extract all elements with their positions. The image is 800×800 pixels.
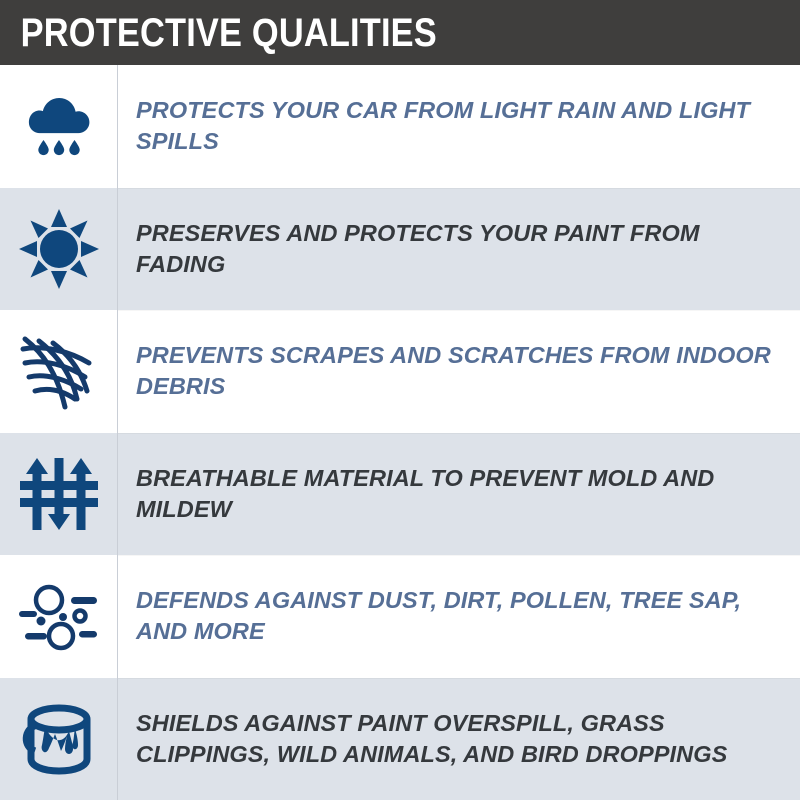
feature-label: SHIELDS AGAINST PAINT OVERSPILL, GRASS C… — [136, 708, 778, 771]
text-cell: BREATHABLE MATERIAL TO PREVENT MOLD AND … — [118, 433, 800, 556]
protective-qualities-infographic: PROTECTIVE QUALITIES PROTECTS YOUR CAR F… — [0, 0, 800, 800]
feature-label: BREATHABLE MATERIAL TO PREVENT MOLD AND … — [136, 463, 778, 526]
text-cell: DEFENDS AGAINST DUST, DIRT, POLLEN, TREE… — [118, 555, 800, 678]
dust-particles-icon — [17, 574, 101, 658]
feature-row: BREATHABLE MATERIAL TO PREVENT MOLD AND … — [0, 433, 800, 556]
page-title: PROTECTIVE QUALITIES — [0, 13, 437, 53]
feature-label: PROTECTS YOUR CAR FROM LIGHT RAIN AND LI… — [136, 95, 778, 158]
scratch-mesh-icon — [17, 329, 101, 413]
rain-cloud-icon — [17, 84, 101, 168]
icon-cell — [0, 678, 118, 800]
text-cell: PRESERVES AND PROTECTS YOUR PAINT FROM F… — [118, 188, 800, 311]
feature-list: PROTECTS YOUR CAR FROM LIGHT RAIN AND LI… — [0, 65, 800, 800]
icon-cell — [0, 433, 118, 556]
icon-cell — [0, 188, 118, 311]
text-cell: SHIELDS AGAINST PAINT OVERSPILL, GRASS C… — [118, 678, 800, 800]
feature-row: PRESERVES AND PROTECTS YOUR PAINT FROM F… — [0, 188, 800, 311]
feature-row: PROTECTS YOUR CAR FROM LIGHT RAIN AND LI… — [0, 65, 800, 188]
feature-label: PRESERVES AND PROTECTS YOUR PAINT FROM F… — [136, 218, 778, 281]
text-cell: PROTECTS YOUR CAR FROM LIGHT RAIN AND LI… — [118, 65, 800, 188]
feature-label: PREVENTS SCRAPES AND SCRATCHES FROM INDO… — [136, 340, 778, 403]
icon-cell — [0, 65, 118, 188]
feature-row: PREVENTS SCRAPES AND SCRATCHES FROM INDO… — [0, 310, 800, 433]
feature-row: SHIELDS AGAINST PAINT OVERSPILL, GRASS C… — [0, 678, 800, 800]
header-bar: PROTECTIVE QUALITIES — [0, 0, 800, 65]
breathable-airflow-icon — [17, 452, 101, 536]
feature-row: DEFENDS AGAINST DUST, DIRT, POLLEN, TREE… — [0, 555, 800, 678]
icon-cell — [0, 555, 118, 678]
paint-can-icon — [15, 695, 103, 783]
icon-cell — [0, 310, 118, 433]
sun-icon — [17, 207, 101, 291]
text-cell: PREVENTS SCRAPES AND SCRATCHES FROM INDO… — [118, 310, 800, 433]
feature-label: DEFENDS AGAINST DUST, DIRT, POLLEN, TREE… — [136, 585, 778, 648]
